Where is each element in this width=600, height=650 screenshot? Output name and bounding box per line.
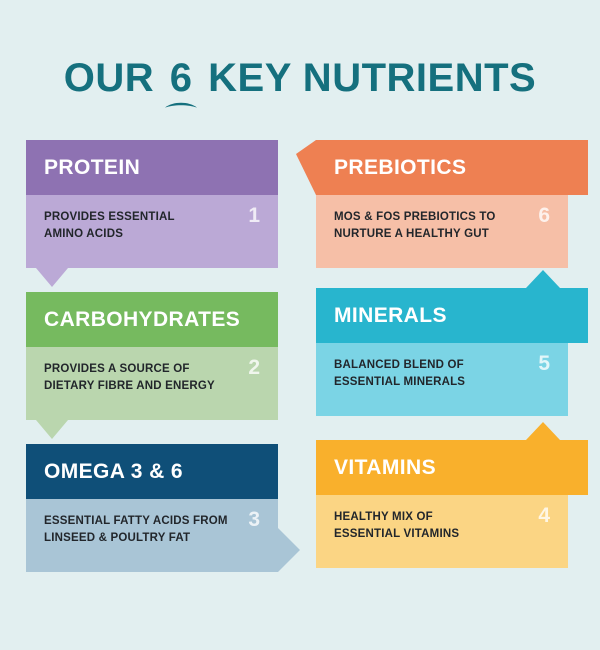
header-extension (568, 288, 588, 343)
card-number-prebiotics: 6 (538, 205, 550, 226)
nutrient-card-vitamins[interactable]: VITAMINS HEALTHY MIX OF ESSENTIAL VITAMI… (316, 440, 568, 568)
card-header-carbohydrates: CARBOHYDRATES (26, 292, 278, 347)
card-description-protein: PROVIDES ESSENTIAL AMINO ACIDS (44, 209, 234, 242)
nutrient-card-prebiotics[interactable]: PREBIOTICS MOS & FOS PREBIOTICS TO NURTU… (316, 140, 568, 268)
card-body-vitamins: HEALTHY MIX OF ESSENTIAL VITAMINS 4 (316, 495, 568, 568)
card-header-minerals: MINERALS (316, 288, 568, 343)
card-title-vitamins: VITAMINS (334, 457, 436, 478)
swoosh-underline-icon (164, 98, 198, 109)
card-header-omega-3-and-6: OMEGA 3 & 6 (26, 444, 278, 499)
nutrient-card-minerals[interactable]: MINERALS BALANCED BLEND OF ESSENTIAL MIN… (316, 288, 568, 416)
card-description-carbohydrates: PROVIDES A SOURCE OF DIETARY FIBRE AND E… (44, 361, 234, 394)
card-title-protein: PROTEIN (44, 157, 140, 178)
page-title-number-wrap: 6 (166, 58, 197, 98)
tail-up-arrow-icon (526, 270, 560, 288)
tail-down-left-icon (36, 268, 68, 287)
card-number-carbohydrates: 2 (248, 357, 260, 378)
tail-right-arrow-icon (278, 528, 300, 572)
card-body-omega-3-and-6: ESSENTIAL FATTY ACIDS FROM LINSEED & POU… (26, 499, 278, 572)
card-body-carbohydrates: PROVIDES A SOURCE OF DIETARY FIBRE AND E… (26, 347, 278, 420)
card-description-minerals: BALANCED BLEND OF ESSENTIAL MINERALS (334, 357, 524, 390)
header-extension (568, 140, 588, 195)
card-title-carbohydrates: CARBOHYDRATES (44, 309, 240, 330)
nutrient-card-omega-3-and-6[interactable]: OMEGA 3 & 6 ESSENTIAL FATTY ACIDS FROM L… (26, 444, 278, 572)
card-body-minerals: BALANCED BLEND OF ESSENTIAL MINERALS 5 (316, 343, 568, 416)
nutrient-card-grid: PROTEIN PROVIDES ESSENTIAL AMINO ACIDS 1… (0, 140, 600, 600)
tail-up-arrow-icon (526, 422, 560, 440)
card-number-omega-3-and-6: 3 (248, 509, 260, 530)
page-title-after: KEY NUTRIENTS (208, 56, 536, 100)
tail-down-left-icon (36, 420, 68, 439)
card-body-protein: PROVIDES ESSENTIAL AMINO ACIDS 1 (26, 195, 278, 268)
card-number-minerals: 5 (538, 353, 550, 374)
card-title-minerals: MINERALS (334, 305, 447, 326)
card-title-omega-3-and-6: OMEGA 3 & 6 (44, 461, 183, 482)
card-title-prebiotics: PREBIOTICS (334, 157, 466, 178)
card-header-protein: PROTEIN (26, 140, 278, 195)
tail-left-chevron-icon (296, 140, 316, 195)
card-number-vitamins: 4 (538, 505, 550, 526)
page-title: OUR 6 KEY NUTRIENTS (0, 58, 600, 98)
nutrient-card-carbohydrates[interactable]: CARBOHYDRATES PROVIDES A SOURCE OF DIETA… (26, 292, 278, 420)
nutrient-card-protein[interactable]: PROTEIN PROVIDES ESSENTIAL AMINO ACIDS 1 (26, 140, 278, 268)
card-description-prebiotics: MOS & FOS PREBIOTICS TO NURTURE A HEALTH… (334, 209, 524, 242)
card-description-omega-3-and-6: ESSENTIAL FATTY ACIDS FROM LINSEED & POU… (44, 513, 234, 546)
card-header-prebiotics: PREBIOTICS (316, 140, 568, 195)
card-header-vitamins: VITAMINS (316, 440, 568, 495)
page-title-before: OUR (64, 56, 154, 100)
card-number-protein: 1 (248, 205, 260, 226)
page-title-number: 6 (170, 56, 193, 100)
card-body-prebiotics: MOS & FOS PREBIOTICS TO NURTURE A HEALTH… (316, 195, 568, 268)
card-description-vitamins: HEALTHY MIX OF ESSENTIAL VITAMINS (334, 509, 524, 542)
header-extension (568, 440, 588, 495)
